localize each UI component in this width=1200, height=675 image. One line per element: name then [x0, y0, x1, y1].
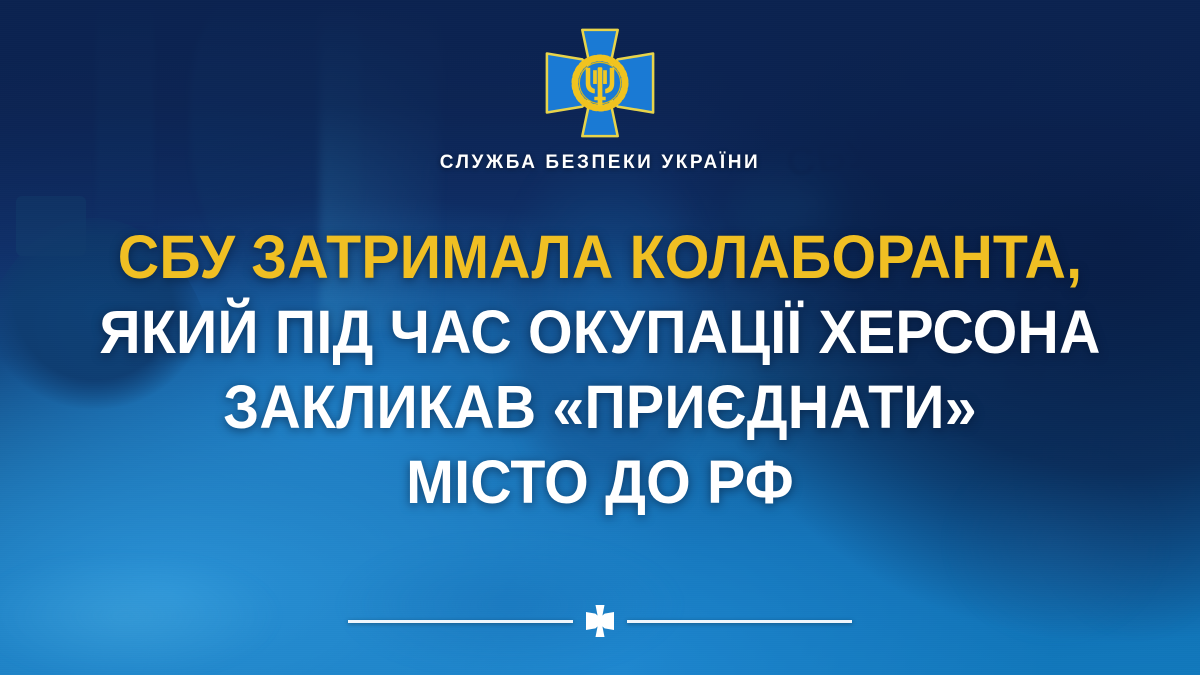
- headline: СБУ ЗАТРИМАЛА КОЛАБОРАНТА, ЯКИЙ ПІД ЧАС …: [0, 220, 1200, 520]
- maltese-cross-icon: [585, 604, 615, 638]
- headline-line-4: МІСТО ДО РФ: [36, 445, 1164, 520]
- organization-name: СЛУЖБА БЕЗПЕКИ УКРАЇНИ: [440, 152, 761, 174]
- divider-rule-left: [348, 620, 573, 623]
- footer-divider: [0, 604, 1200, 638]
- headline-line-1: СБУ ЗАТРИМАЛА КОЛАБОРАНТА,: [36, 220, 1164, 295]
- headline-line-2: ЯКИЙ ПІД ЧАС ОКУПАЦІЇ ХЕРСОНА: [36, 295, 1164, 370]
- sbu-cross-emblem-icon: [541, 24, 659, 142]
- sbu-announcement-poster: СБУ: [0, 0, 1200, 675]
- divider-rule-right: [627, 620, 852, 623]
- headline-line-3: ЗАКЛИКАВ «ПРИЄДНАТИ»: [36, 370, 1164, 445]
